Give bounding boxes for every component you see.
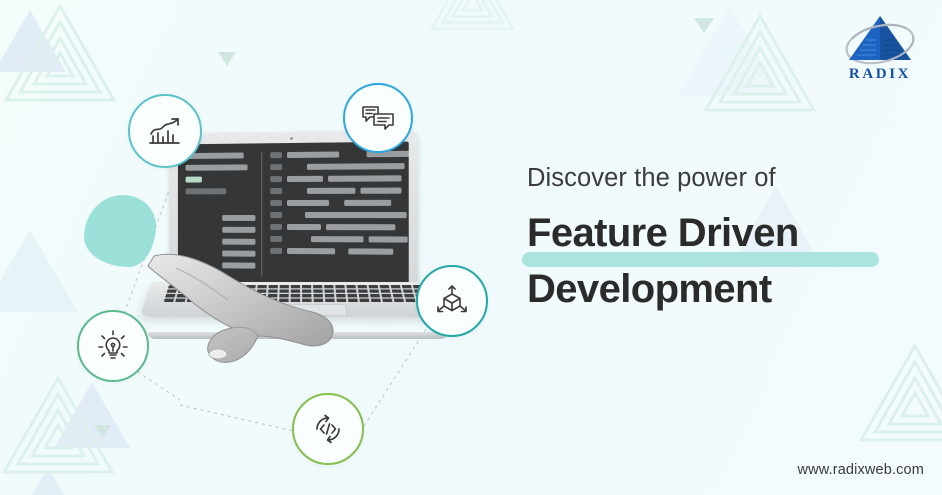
growth-chart-glyph xyxy=(148,116,182,146)
lightbulb-glyph xyxy=(97,329,129,363)
growth-chart-icon[interactable] xyxy=(128,94,202,168)
brand-logo: RADIX xyxy=(832,12,928,88)
banner-root: RADIX Discover the power of Feature Driv… xyxy=(0,0,942,495)
headline-block: Discover the power of Feature Driven Dev… xyxy=(527,164,927,317)
sidebar-accent-bar xyxy=(186,177,202,183)
radix-pyramid-logo-icon xyxy=(832,12,928,67)
code-cycle-glyph xyxy=(311,412,345,446)
chat-bubbles-glyph xyxy=(361,104,395,132)
lightbulb-idea-icon[interactable] xyxy=(77,310,149,382)
code-cycle-icon[interactable] xyxy=(292,393,364,465)
cube-scalability-glyph xyxy=(435,284,469,318)
hand-photo xyxy=(146,250,356,390)
headline-line-1: Feature Driven xyxy=(527,205,927,261)
cube-scalability-icon[interactable] xyxy=(416,265,488,337)
chat-bubbles-icon[interactable] xyxy=(343,83,413,153)
brand-name: RADIX xyxy=(832,66,928,83)
headline-line-2: Development xyxy=(527,261,927,317)
headline-kicker: Discover the power of xyxy=(527,164,927,192)
illustration-stage xyxy=(60,70,510,460)
webcam-dot xyxy=(290,137,293,140)
bg-triangle-group-mint-2 xyxy=(432,0,513,29)
website-url: www.radixweb.com xyxy=(798,462,925,478)
laptop-illustration xyxy=(138,132,458,432)
